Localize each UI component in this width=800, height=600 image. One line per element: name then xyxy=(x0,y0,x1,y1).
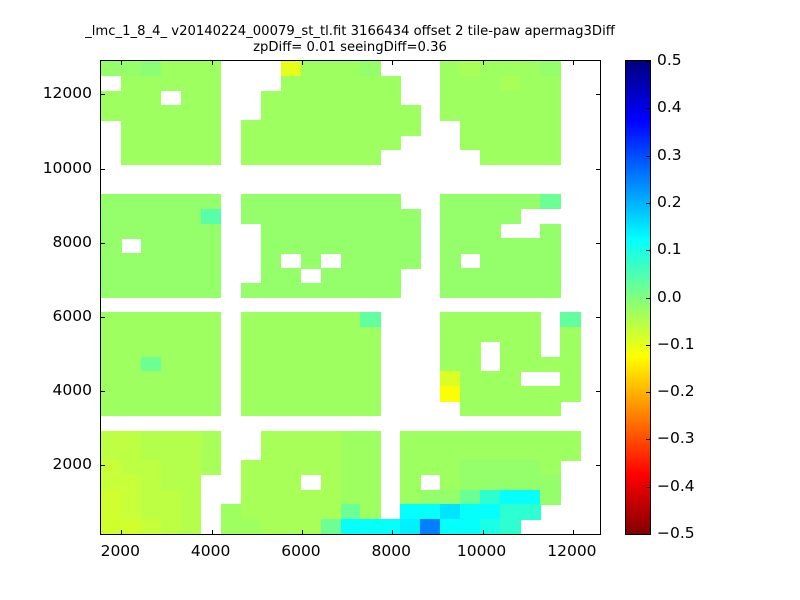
heatmap-cell xyxy=(400,224,421,239)
heatmap-cell xyxy=(161,401,182,416)
y-tick-label: 2000 xyxy=(53,455,92,473)
heatmap-cell xyxy=(221,519,242,534)
heatmap-cell xyxy=(201,327,222,342)
heatmap-cell xyxy=(480,238,501,253)
heatmap-cell xyxy=(261,150,282,165)
heatmap-cell xyxy=(141,209,162,224)
heatmap-cell xyxy=(360,224,381,239)
heatmap-cell xyxy=(480,401,501,416)
heatmap-cell xyxy=(101,401,122,416)
heatmap-cell xyxy=(241,357,262,372)
colorbar-tick-label: 0.0 xyxy=(657,288,682,306)
heatmap-cell xyxy=(520,342,541,357)
heatmap-cell xyxy=(480,150,501,165)
heatmap-cell xyxy=(540,253,561,268)
x-tick xyxy=(483,530,484,534)
heatmap-cell xyxy=(400,105,421,120)
heatmap-cell xyxy=(360,135,381,150)
heatmap-cell xyxy=(440,342,461,357)
heatmap-cell xyxy=(161,460,182,475)
heatmap-cell xyxy=(161,342,182,357)
heatmap-cell xyxy=(500,342,521,357)
heatmap-cell xyxy=(161,357,182,372)
heatmap-cell xyxy=(161,120,182,135)
heatmap-cell xyxy=(341,238,362,253)
heatmap-cell xyxy=(540,194,561,209)
heatmap-cell xyxy=(181,504,202,519)
heatmap-cell xyxy=(560,327,581,342)
heatmap-cell xyxy=(261,120,282,135)
heatmap-cell xyxy=(121,209,142,224)
heatmap-cell xyxy=(480,76,501,91)
heatmap-cell xyxy=(141,327,162,342)
heatmap-cell xyxy=(360,519,381,534)
heatmap-cell xyxy=(141,135,162,150)
colorbar-tick xyxy=(646,439,650,440)
y-tick-right xyxy=(596,243,600,244)
heatmap-cell xyxy=(241,475,262,490)
heatmap-cell xyxy=(360,61,381,76)
heatmap-cell xyxy=(261,105,282,120)
heatmap-cell xyxy=(321,76,342,91)
heatmap-cell xyxy=(500,490,521,505)
heatmap-cell xyxy=(141,76,162,91)
y-tick xyxy=(101,391,105,392)
heatmap-cell xyxy=(161,105,182,120)
heatmap-cell xyxy=(141,312,162,327)
heatmap-cell xyxy=(341,150,362,165)
heatmap-cell xyxy=(101,386,122,401)
heatmap-cell xyxy=(341,504,362,519)
heatmap-cell xyxy=(540,76,561,91)
heatmap-cell xyxy=(141,475,162,490)
heatmap-cell xyxy=(321,401,342,416)
heatmap-cell xyxy=(540,357,561,372)
heatmap-cell xyxy=(301,61,322,76)
heatmap-cell xyxy=(460,238,481,253)
heatmap-cell xyxy=(121,504,142,519)
colorbar-tick-label: 0.2 xyxy=(657,193,682,211)
y-tick-right xyxy=(596,94,600,95)
heatmap-cell xyxy=(121,386,142,401)
y-tick-label: 12000 xyxy=(43,84,92,102)
heatmap-cell xyxy=(520,76,541,91)
heatmap-cell xyxy=(101,61,122,76)
heatmap-cell xyxy=(281,120,302,135)
heatmap-cell xyxy=(540,460,561,475)
heatmap-cell xyxy=(121,475,142,490)
heatmap-cell xyxy=(360,253,381,268)
heatmap-cell xyxy=(121,253,142,268)
heatmap-cell xyxy=(301,490,322,505)
heatmap-cell xyxy=(360,386,381,401)
heatmap-cell xyxy=(281,312,302,327)
heatmap-cell xyxy=(161,150,182,165)
heatmap-cell xyxy=(201,431,222,446)
heatmap-cell xyxy=(141,150,162,165)
heatmap-cell xyxy=(520,150,541,165)
heatmap-cell xyxy=(460,371,481,386)
heatmap-cell xyxy=(201,209,222,224)
heatmap-cell xyxy=(121,150,142,165)
heatmap-cell xyxy=(281,327,302,342)
heatmap-cell xyxy=(540,431,561,446)
heatmap-cell xyxy=(540,283,561,298)
heatmap-cell xyxy=(460,475,481,490)
heatmap-cell xyxy=(341,61,362,76)
title-subtitle-line: zpDiff= 0.01 seeingDiff=0.36 xyxy=(0,40,700,56)
heatmap-cell xyxy=(321,519,342,534)
heatmap-cell xyxy=(480,120,501,135)
heatmap-cell xyxy=(321,224,342,239)
heatmap-cell xyxy=(181,460,202,475)
heatmap-cell xyxy=(281,445,302,460)
heatmap-cell xyxy=(341,475,362,490)
heatmap-cell xyxy=(480,209,501,224)
heatmap-cell xyxy=(500,135,521,150)
heatmap-cell xyxy=(360,268,381,283)
y-tick-right xyxy=(596,391,600,392)
heatmap-cell xyxy=(181,253,202,268)
heatmap-cell xyxy=(161,312,182,327)
heatmap-cell xyxy=(460,283,481,298)
heatmap-cell xyxy=(101,371,122,386)
heatmap-cell xyxy=(341,135,362,150)
heatmap-cell xyxy=(520,238,541,253)
heatmap-cell xyxy=(181,238,202,253)
heatmap-cell xyxy=(500,357,521,372)
heatmap-cell xyxy=(500,445,521,460)
heatmap-cell xyxy=(281,150,302,165)
heatmap-cell xyxy=(201,445,222,460)
y-tick-right xyxy=(596,317,600,318)
heatmap-cell xyxy=(420,504,441,519)
heatmap-cell xyxy=(500,431,521,446)
heatmap-cell xyxy=(480,371,501,386)
heatmap-cell xyxy=(301,371,322,386)
heatmap-cell xyxy=(101,105,122,120)
heatmap-cell xyxy=(460,357,481,372)
x-tick xyxy=(392,530,393,534)
heatmap-cell xyxy=(321,357,342,372)
heatmap-cell xyxy=(261,431,282,446)
heatmap-cell xyxy=(360,401,381,416)
heatmap-cell xyxy=(520,120,541,135)
heatmap-cell xyxy=(301,224,322,239)
y-tick-right xyxy=(596,465,600,466)
heatmap-cell xyxy=(480,253,501,268)
heatmap-cell xyxy=(101,460,122,475)
heatmap-cell xyxy=(141,238,162,253)
heatmap-cell xyxy=(420,519,441,534)
heatmap-cell xyxy=(460,209,481,224)
colorbar-tick-label: 0.4 xyxy=(657,98,682,116)
heatmap-cell xyxy=(301,194,322,209)
heatmap-cell xyxy=(101,357,122,372)
heatmap-cell xyxy=(520,283,541,298)
heatmap-cell xyxy=(301,431,322,446)
heatmap-cell xyxy=(301,312,322,327)
y-tick-right xyxy=(596,169,600,170)
heatmap-cell xyxy=(520,386,541,401)
heatmap-cell xyxy=(261,460,282,475)
heatmap-cell xyxy=(301,445,322,460)
heatmap-cell xyxy=(360,76,381,91)
heatmap-cell xyxy=(181,401,202,416)
heatmap-cell xyxy=(480,475,501,490)
heatmap-cell xyxy=(520,401,541,416)
heatmap-cell xyxy=(141,371,162,386)
x-tick-label: 2000 xyxy=(101,542,140,560)
x-tick-label: 6000 xyxy=(281,542,320,560)
heatmap-cell xyxy=(540,61,561,76)
heatmap-cell xyxy=(201,312,222,327)
heatmap-cell xyxy=(500,253,521,268)
heatmap-cell xyxy=(201,105,222,120)
heatmap-cell xyxy=(301,76,322,91)
heatmap-cell xyxy=(101,431,122,446)
heatmap-cell xyxy=(301,519,322,534)
heatmap-cell xyxy=(440,61,461,76)
heatmap-cell xyxy=(261,268,282,283)
heatmap-cell xyxy=(480,224,501,239)
heatmap-cell xyxy=(261,401,282,416)
heatmap-cell xyxy=(341,224,362,239)
heatmap-cell xyxy=(321,120,342,135)
heatmap-cell xyxy=(341,253,362,268)
x-tick-label: 12000 xyxy=(547,542,596,560)
heatmap-cell xyxy=(480,386,501,401)
heatmap-cell xyxy=(460,312,481,327)
heatmap-cell xyxy=(261,238,282,253)
heatmap-cell xyxy=(460,135,481,150)
heatmap-cell xyxy=(201,371,222,386)
heatmap-cell xyxy=(121,342,142,357)
heatmap-cell xyxy=(440,490,461,505)
heatmap-cell xyxy=(321,504,342,519)
heatmap-cell xyxy=(480,105,501,120)
heatmap-cell xyxy=(301,238,322,253)
heatmap-cell xyxy=(520,357,541,372)
heatmap-cell xyxy=(281,76,302,91)
heatmap-cell xyxy=(261,194,282,209)
heatmap-cell xyxy=(321,475,342,490)
colorbar-tick xyxy=(646,108,650,109)
colorbar-tick xyxy=(646,487,650,488)
heatmap-cell xyxy=(121,357,142,372)
x-tick-top xyxy=(573,61,574,65)
heatmap-cell xyxy=(440,504,461,519)
heatmap-cell xyxy=(540,120,561,135)
heatmap-cell xyxy=(500,401,521,416)
heatmap-cell xyxy=(301,386,322,401)
heatmap-cell xyxy=(261,327,282,342)
heatmap-cell xyxy=(520,135,541,150)
heatmap-cell xyxy=(480,283,501,298)
heatmap-cell xyxy=(321,312,342,327)
heatmap-cell xyxy=(500,268,521,283)
heatmap-cell xyxy=(241,460,262,475)
heatmap-cell xyxy=(261,504,282,519)
heatmap-cell xyxy=(440,386,461,401)
heatmap-cell xyxy=(101,253,122,268)
heatmap-cell xyxy=(500,504,521,519)
heatmap-cell xyxy=(560,386,581,401)
heatmap-cell xyxy=(241,327,262,342)
heatmap-cell xyxy=(460,342,481,357)
heatmap-cell xyxy=(520,431,541,446)
heatmap-cell xyxy=(201,238,222,253)
heatmap-cell xyxy=(181,120,202,135)
heatmap-cell xyxy=(440,357,461,372)
heatmap-cell xyxy=(520,194,541,209)
heatmap-cell xyxy=(500,475,521,490)
heatmap-cell xyxy=(261,283,282,298)
heatmap-cell xyxy=(181,431,202,446)
heatmap-cell xyxy=(500,519,521,534)
heatmap-cell xyxy=(360,105,381,120)
heatmap-cell xyxy=(500,91,521,106)
heatmap-cell xyxy=(201,268,222,283)
heatmap-cell xyxy=(261,91,282,106)
heatmap-cell xyxy=(380,120,401,135)
heatmap-cell xyxy=(221,504,242,519)
colorbar-tick-label: −0.5 xyxy=(657,524,695,542)
heatmap-cell xyxy=(360,150,381,165)
heatmap-cell xyxy=(540,475,561,490)
heatmap-cell xyxy=(460,460,481,475)
heatmap-cell xyxy=(141,91,162,106)
heatmap-cell xyxy=(520,490,541,505)
heatmap-cell xyxy=(480,445,501,460)
heatmap-cell xyxy=(560,371,581,386)
colorbar[interactable] xyxy=(625,60,651,535)
heatmap-cell xyxy=(301,401,322,416)
heatmap-cell xyxy=(500,460,521,475)
heatmap-cell xyxy=(261,342,282,357)
heatmap-cell xyxy=(460,224,481,239)
heatmap-cell xyxy=(121,91,142,106)
matplotlib-figure: _lmc_1_8_4_ v20140224_00079_st_tl.fit 31… xyxy=(0,0,800,600)
title-main-line: _lmc_1_8_4_ v20140224_00079_st_tl.fit 31… xyxy=(0,24,700,40)
x-tick xyxy=(573,530,574,534)
heatmap-cell xyxy=(360,504,381,519)
heatmap-cell xyxy=(281,490,302,505)
colorbar-tick-label: 0.3 xyxy=(657,146,682,164)
heatmap-cell xyxy=(141,357,162,372)
heatmap-cell xyxy=(360,91,381,106)
heatmap-cell xyxy=(341,401,362,416)
heatmap-cell xyxy=(380,135,401,150)
colorbar-tick-label: 0.5 xyxy=(657,51,682,69)
heatmap-cell xyxy=(121,194,142,209)
heatmap-cell xyxy=(201,150,222,165)
heatmap-cell xyxy=(480,91,501,106)
heatmap-cell xyxy=(121,224,142,239)
heatmap-cell xyxy=(500,371,521,386)
heatmap-cell xyxy=(121,401,142,416)
heatmap-cell xyxy=(281,135,302,150)
heatmap-cell xyxy=(380,283,401,298)
heatmap-cell xyxy=(321,61,342,76)
heatmap-cell xyxy=(281,357,302,372)
heatmap-cell xyxy=(181,371,202,386)
heatmap-cell xyxy=(341,371,362,386)
heatmap-cell xyxy=(360,357,381,372)
heatmap-cell xyxy=(540,91,561,106)
heatmap-cell xyxy=(500,386,521,401)
heatmap-cell xyxy=(380,238,401,253)
heatmap-cell xyxy=(440,76,461,91)
heatmap-cell xyxy=(241,209,262,224)
heatmap-cell xyxy=(321,105,342,120)
heatmap-cell xyxy=(141,105,162,120)
heatmap-cell xyxy=(181,224,202,239)
heatmap-cell xyxy=(360,312,381,327)
heatmap-cell xyxy=(440,371,461,386)
heatmap-cell xyxy=(460,327,481,342)
heatmap-cell xyxy=(341,91,362,106)
heatmap-cell xyxy=(341,490,362,505)
heatmap-cell xyxy=(540,150,561,165)
x-tick-top xyxy=(483,61,484,65)
heatmap-cell xyxy=(560,357,581,372)
heatmap-cell xyxy=(201,253,222,268)
heatmap-cell xyxy=(161,386,182,401)
heatmap-cell xyxy=(181,475,202,490)
heatmap-cell xyxy=(141,120,162,135)
heatmap-cell xyxy=(261,490,282,505)
heatmap-cell xyxy=(161,135,182,150)
heatmap-cell xyxy=(460,105,481,120)
heatmap-cell xyxy=(161,76,182,91)
heatmap-cell xyxy=(440,445,461,460)
heatmap-cell xyxy=(101,327,122,342)
heatmap-cell xyxy=(101,475,122,490)
heatmap-cell xyxy=(121,445,142,460)
heatmap-cell xyxy=(440,268,461,283)
heatmap-cell xyxy=(480,194,501,209)
heatmap-cell xyxy=(261,312,282,327)
heatmap-cell xyxy=(161,238,182,253)
heatmap-axes[interactable] xyxy=(100,60,601,535)
heatmap-cell xyxy=(460,91,481,106)
heatmap-cell xyxy=(341,431,362,446)
heatmap-cell xyxy=(281,460,302,475)
heatmap-cell xyxy=(301,504,322,519)
heatmap-cell xyxy=(261,224,282,239)
heatmap-cell xyxy=(301,357,322,372)
heatmap-cell xyxy=(520,268,541,283)
y-tick-label: 4000 xyxy=(53,381,92,399)
heatmap-cell xyxy=(301,209,322,224)
heatmap-cell xyxy=(161,490,182,505)
heatmap-cell xyxy=(281,475,302,490)
heatmap-cell xyxy=(181,135,202,150)
heatmap-cell xyxy=(121,371,142,386)
heatmap-cell xyxy=(341,386,362,401)
heatmap-cell xyxy=(281,283,302,298)
heatmap-cell xyxy=(460,490,481,505)
heatmap-cell xyxy=(360,209,381,224)
heatmap-cell xyxy=(181,209,202,224)
heatmap-cell xyxy=(540,445,561,460)
heatmap-cell xyxy=(540,401,561,416)
colorbar-tick xyxy=(646,392,650,393)
heatmap-cell xyxy=(520,312,541,327)
heatmap-cell xyxy=(400,209,421,224)
heatmap-cell xyxy=(360,120,381,135)
